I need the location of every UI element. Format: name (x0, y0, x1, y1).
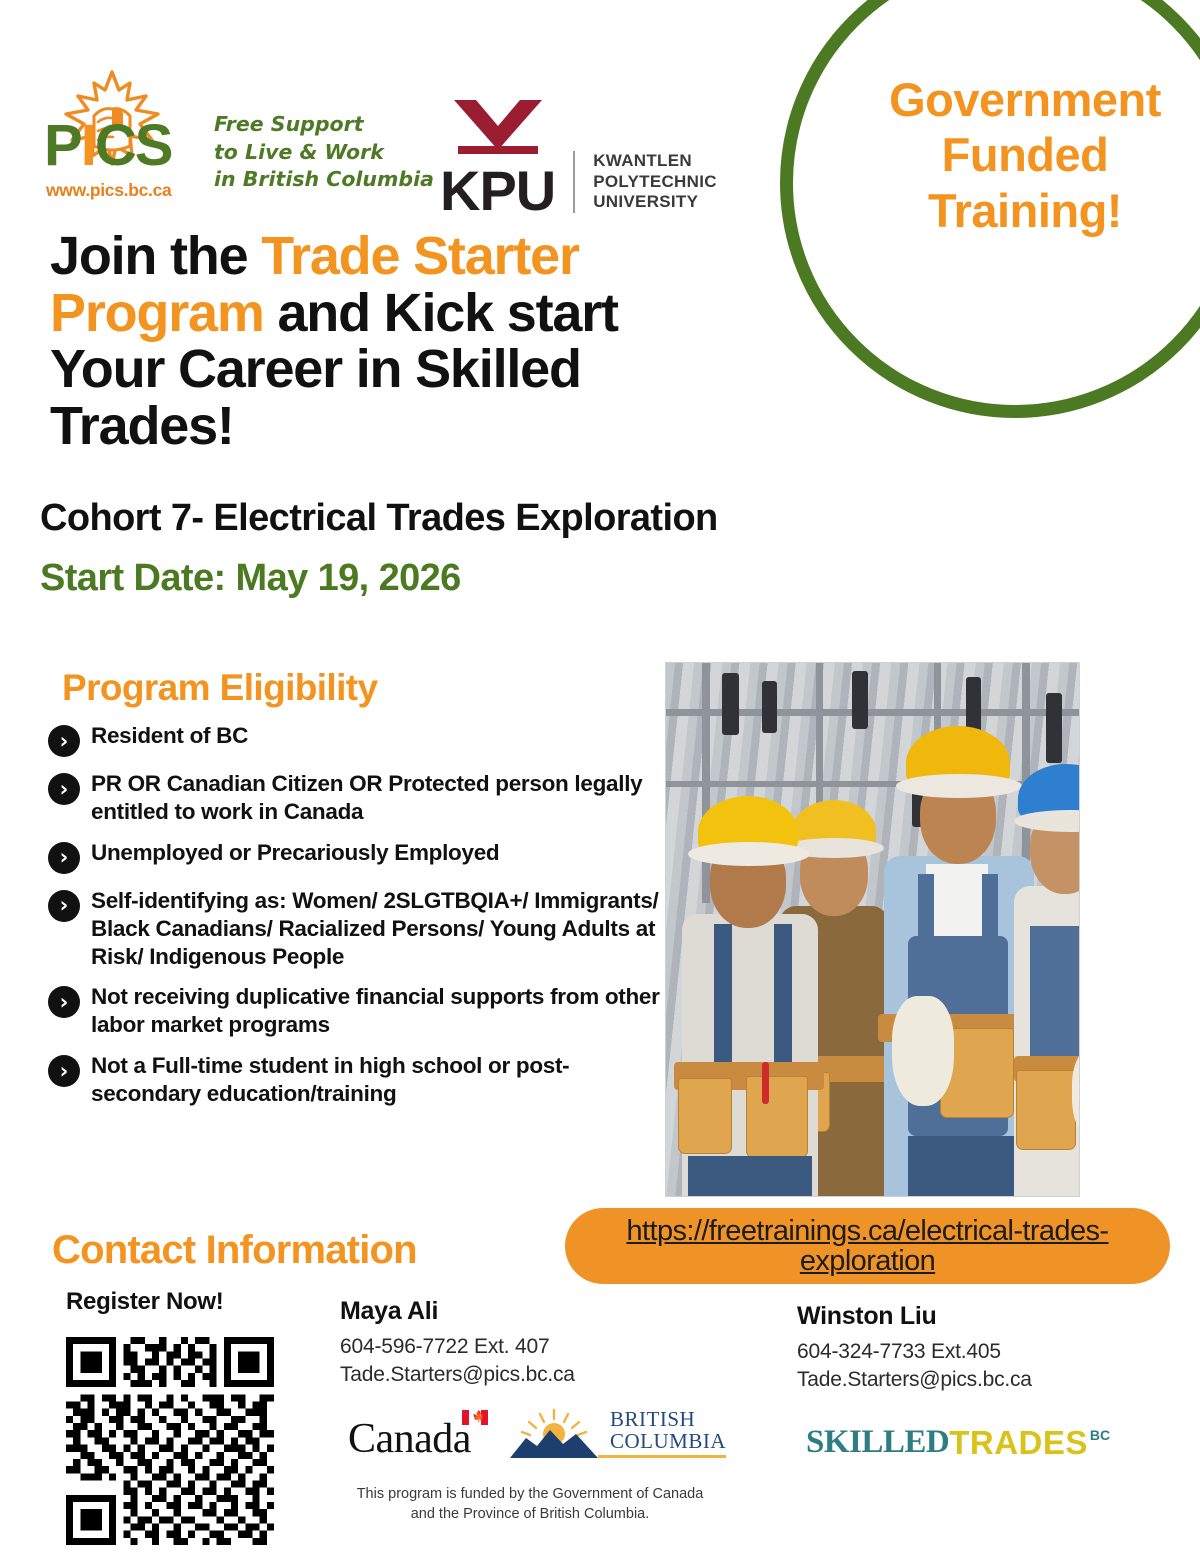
contact-information-title: Contact Information (52, 1228, 417, 1273)
banner-line-3: Training! (840, 183, 1200, 238)
funding-note-line-2: and the Province of British Columbia. (330, 1504, 730, 1524)
eligibility-item-label: Not a Full-time student in high school o… (91, 1052, 663, 1108)
registration-url-banner[interactable]: https://freetrainings.ca/electrical-trad… (565, 1208, 1170, 1284)
eligibility-item-label: Not receiving duplicative financial supp… (91, 983, 663, 1039)
list-item: › Not receiving duplicative financial su… (48, 983, 663, 1039)
registration-url[interactable]: https://freetrainings.ca/electrical-trad… (565, 1216, 1170, 1277)
list-item: › PR OR Canadian Citizen OR Protected pe… (48, 770, 663, 826)
skilled-trades-bc-logo: SKILLEDTRADESBC (806, 1424, 1110, 1462)
funding-note-line-1: This program is funded by the Government… (330, 1484, 730, 1504)
list-item: › Resident of BC (48, 722, 663, 757)
kpu-letters: KPU (440, 164, 555, 217)
pics-letters-cs: CS (95, 113, 172, 178)
pics-logo-mark: PICS www.pics.bc.ca (44, 70, 182, 205)
eligibility-item-label: Self-identifying as: Women/ 2SLGTBQIA+/ … (91, 887, 663, 971)
banner-line-2: Funded (840, 127, 1200, 182)
pics-tagline-line-1: Free Support (214, 111, 434, 138)
banner-line-1: Government (840, 72, 1200, 127)
pics-letter-i: I (81, 113, 95, 178)
canada-flag-icon: 🍁 (462, 1410, 488, 1425)
stbc-bc: BC (1090, 1427, 1110, 1443)
stbc-skilled: SKILLED (806, 1424, 949, 1461)
canada-wordmark: Canada (348, 1415, 471, 1463)
cohort-title: Cohort 7- Electrical Trades Exploration (40, 497, 718, 540)
eligibility-item-label: PR OR Canadian Citizen OR Protected pers… (91, 770, 663, 826)
pics-letter-p: P (44, 113, 81, 178)
eligibility-list: › Resident of BC › PR OR Canadian Citize… (48, 722, 663, 1121)
eligibility-item-label: Resident of BC (91, 722, 248, 750)
pics-logo: PICS www.pics.bc.ca Free Support to Live… (44, 70, 434, 205)
list-item: › Not a Full-time student in high school… (48, 1052, 663, 1108)
pics-wordmark: PICS (44, 117, 171, 175)
kpu-chevron-mark-icon (446, 98, 550, 160)
chevron-right-circle-icon: › (48, 773, 80, 805)
pics-tagline-line-2: to Live & Work (214, 139, 434, 166)
eligibility-item-label: Unemployed or Precariously Employed (91, 839, 499, 867)
workers-photo (665, 662, 1080, 1197)
bc-line-1: BRITISH (610, 1408, 726, 1430)
start-date: Start Date: May 19, 2026 (40, 557, 461, 600)
list-item: › Unemployed or Precariously Employed (48, 839, 663, 874)
chevron-right-circle-icon: › (48, 725, 80, 757)
kpu-name-line-3: UNIVERSITY (593, 192, 717, 213)
kpu-name-line-1: KWANTLEN (593, 151, 717, 172)
chevron-right-circle-icon: › (48, 842, 80, 874)
headline-segment-1: Join the (50, 226, 261, 286)
british-columbia-logo: BRITISH COLUMBIA (510, 1408, 726, 1458)
contact-phone: 604-324-7733 Ext.405 (797, 1338, 1032, 1366)
contact-person: Winston Liu 604-324-7733 Ext.405 Tade.St… (797, 1302, 1032, 1395)
chevron-right-circle-icon: › (48, 890, 80, 922)
page-headline: Join the Trade Starter Program and Kick … (50, 228, 730, 455)
government-funded-banner: Government Funded Training! (840, 72, 1200, 238)
funding-disclaimer: This program is funded by the Government… (330, 1484, 730, 1525)
contact-person: Maya Ali 604-596-7722 Ext. 407 Tade.Star… (340, 1297, 575, 1390)
kpu-logo: KPU KWANTLEN POLYTECHNIC UNIVERSITY (440, 98, 717, 217)
qr-code-icon[interactable] (66, 1337, 274, 1545)
pics-tagline-line-3: in British Columbia (214, 166, 434, 193)
contact-email[interactable]: Tade.Starters@pics.bc.ca (797, 1366, 1032, 1394)
register-now-label: Register Now! (66, 1288, 223, 1316)
pics-url: www.pics.bc.ca (46, 180, 171, 201)
list-item: › Self-identifying as: Women/ 2SLGTBQIA+… (48, 887, 663, 971)
contact-name: Winston Liu (797, 1302, 1032, 1331)
eligibility-title: Program Eligibility (62, 667, 378, 709)
contact-phone: 604-596-7722 Ext. 407 (340, 1333, 575, 1361)
kpu-divider (573, 151, 575, 213)
contact-email[interactable]: Tade.Starters@pics.bc.ca (340, 1361, 575, 1389)
chevron-right-circle-icon: › (48, 986, 80, 1018)
pics-tagline: Free Support to Live & Work in British C… (214, 111, 434, 193)
bc-sun-mountain-icon (510, 1408, 598, 1458)
chevron-right-circle-icon: › (48, 1055, 80, 1087)
contact-name: Maya Ali (340, 1297, 575, 1326)
bc-line-2: COLUMBIA (610, 1430, 726, 1452)
stbc-trades: TRADES (949, 1424, 1088, 1462)
kpu-university-name: KWANTLEN POLYTECHNIC UNIVERSITY (593, 151, 717, 213)
kpu-name-line-2: POLYTECHNIC (593, 172, 717, 193)
